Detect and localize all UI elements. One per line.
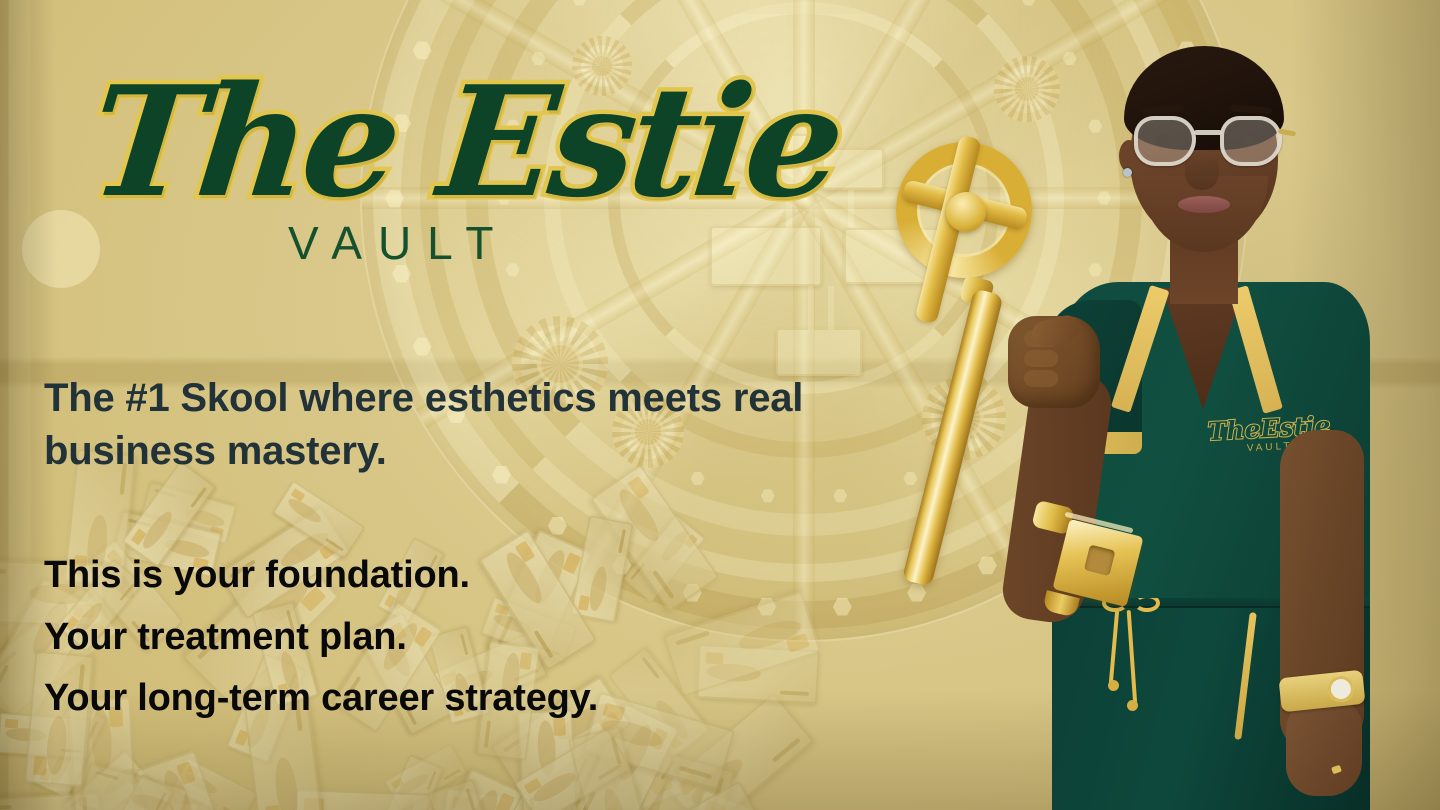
vault-mech-link-2 bbox=[848, 190, 854, 228]
vault-mech-link-3 bbox=[808, 286, 814, 330]
model-lips bbox=[1178, 196, 1230, 213]
eyeglass-lens-right bbox=[1220, 116, 1282, 166]
vault-mech-box-3 bbox=[710, 226, 822, 286]
vault-bolt bbox=[572, 0, 586, 6]
promo-banner: The Estie VAULT The #1 Skool where esthe… bbox=[0, 0, 1440, 810]
drawstring-tip-2 bbox=[1127, 700, 1138, 711]
subcopy-line-3: Your long-term career strategy. bbox=[44, 668, 744, 730]
model-drawstring bbox=[1096, 594, 1166, 704]
vault-bolt bbox=[833, 489, 847, 503]
eyeglass-bridge bbox=[1194, 130, 1222, 135]
subcopy-line-2: Your treatment plan. bbox=[44, 607, 744, 669]
golden-key-icon bbox=[888, 132, 1168, 602]
drawstring-tip-1 bbox=[1108, 680, 1119, 691]
vault-mech-box-5 bbox=[776, 328, 862, 376]
subcopy-block: This is your foundation. Your treatment … bbox=[44, 545, 744, 730]
model-right-hand bbox=[1286, 700, 1362, 796]
drawstring-tail-1 bbox=[1109, 610, 1119, 684]
headline-text: The #1 Skool where esthetics meets real … bbox=[44, 372, 874, 478]
brand-script-wordmark: The Estie bbox=[84, 62, 681, 222]
key-shaft bbox=[902, 288, 1004, 586]
wristwatch-face bbox=[1327, 675, 1356, 704]
vault-mech-link-4 bbox=[828, 286, 834, 330]
drawstring-tail-2 bbox=[1127, 610, 1138, 706]
subcopy-line-1: This is your foundation. bbox=[44, 545, 744, 607]
brand-logo: The Estie VAULT bbox=[92, 62, 672, 270]
